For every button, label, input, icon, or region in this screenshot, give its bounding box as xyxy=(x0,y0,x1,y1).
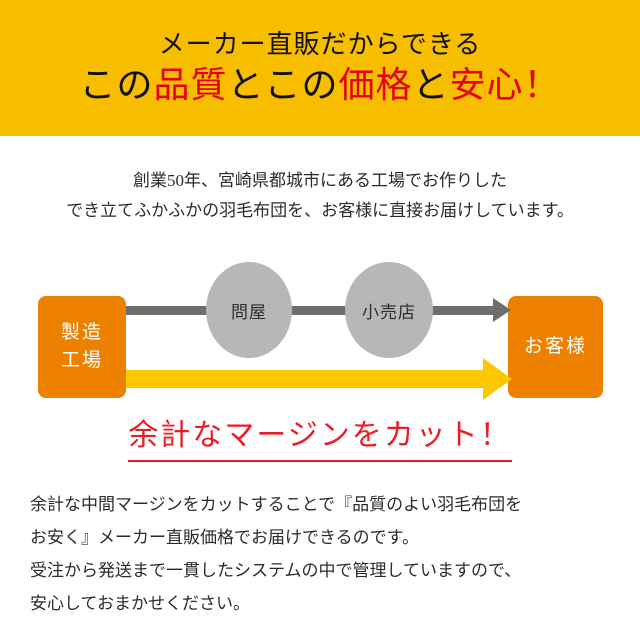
outro-line-3: 受注から発送まで一貫したシステムの中で管理していますので、 xyxy=(30,554,620,587)
flow-box-factory-line-2: 工場 xyxy=(61,347,103,376)
indirect-route-arrowhead-icon xyxy=(493,298,511,322)
promo-banner: メーカー直販だからできる この品質とこの価格と安心！ 創業50年、宮崎県都城市に… xyxy=(0,0,640,640)
direct-route-arrowhead-icon xyxy=(483,358,512,400)
headline-segment-price: 価格 xyxy=(339,65,413,105)
flow-node-wholesaler: 問屋 xyxy=(206,262,292,358)
headline-segment-1: この xyxy=(79,65,153,105)
outro-line-4: 安心しておまかせください。 xyxy=(30,587,620,620)
header-band: メーカー直販だからできる この品質とこの価格と安心！ xyxy=(0,0,640,136)
outro-paragraph: 余計な中間マージンをカットすることで『品質のよい羽毛布団を お安く』メーカー直販… xyxy=(30,488,620,621)
headline-segment-assurance: 安心！ xyxy=(450,65,561,105)
flow-box-factory-line-1: 製造 xyxy=(61,319,103,348)
headline-segment-3: とこの xyxy=(227,65,338,105)
intro-line-2: でき立てふかふかの羽毛布団を、お客様に直接お届けしています。 xyxy=(0,196,640,226)
flow-node-retailer-label: 小売店 xyxy=(362,298,416,323)
outro-line-1: 余計な中間マージンをカットすることで『品質のよい羽毛布団を xyxy=(30,488,620,521)
headline-primary: メーカー直販だからできる xyxy=(159,31,482,60)
catchcopy-wrapper: 余計なマージンをカット！ xyxy=(0,418,640,462)
direct-route-line xyxy=(126,370,486,388)
outro-line-2: お安く』メーカー直販価格でお届けできるのです。 xyxy=(30,521,620,554)
intro-paragraph: 創業50年、宮崎県都城市にある工場でお作りした でき立てふかふかの羽毛布団を、お… xyxy=(0,166,640,226)
flow-box-customer: お客様 xyxy=(508,296,603,398)
flow-box-factory: 製造 工場 xyxy=(38,296,126,398)
flow-node-wholesaler-label: 問屋 xyxy=(231,298,267,323)
flow-node-retailer: 小売店 xyxy=(345,262,433,358)
flow-box-customer-label: お客様 xyxy=(524,333,587,362)
headline-segment-5: と xyxy=(413,65,450,105)
headline-secondary: この品質とこの価格と安心！ xyxy=(79,66,560,106)
headline-segment-quality: 品質 xyxy=(153,65,227,105)
catchcopy-text: 余計なマージンをカット！ xyxy=(128,418,511,462)
distribution-flow-diagram: 製造 工場 問屋 小売店 お客様 xyxy=(0,262,640,407)
intro-line-1: 創業50年、宮崎県都城市にある工場でお作りした xyxy=(0,166,640,196)
